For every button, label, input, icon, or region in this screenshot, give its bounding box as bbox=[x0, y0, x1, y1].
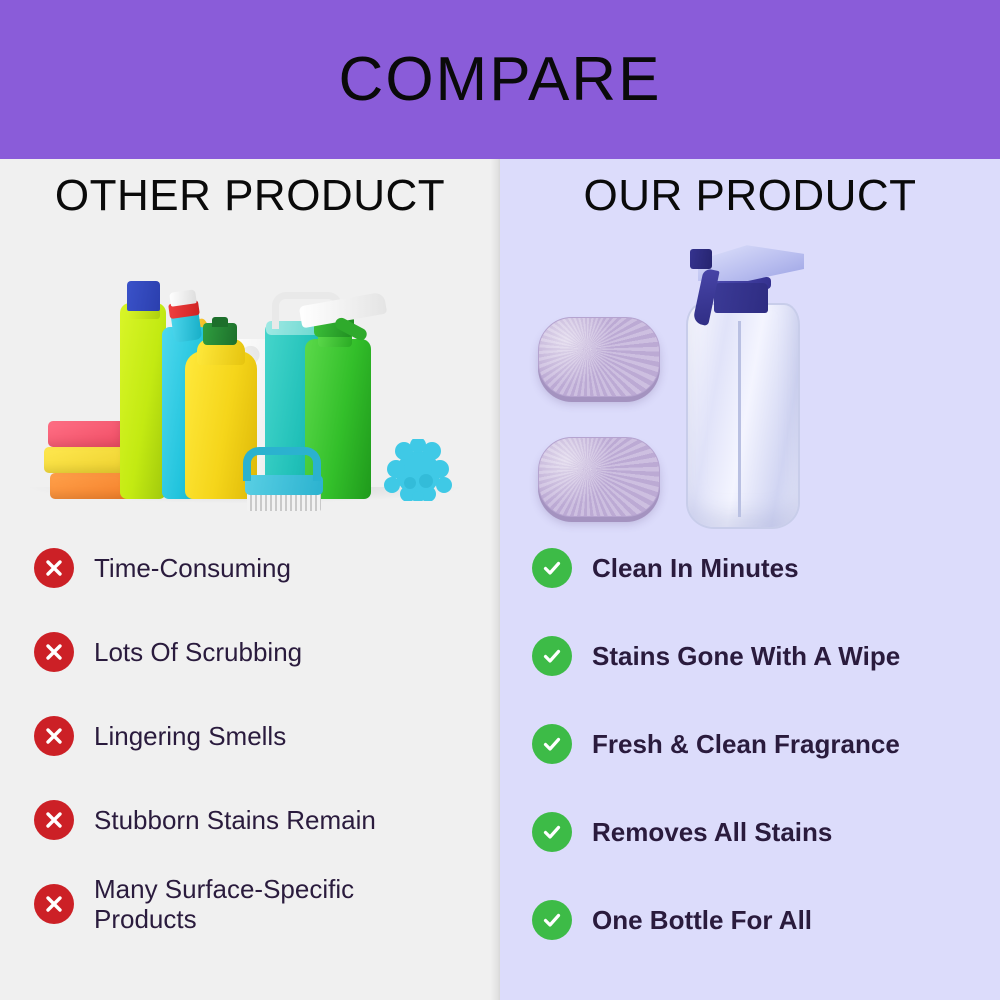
other-product-artwork bbox=[0, 225, 500, 525]
panel-other-product: OTHER PRODUCT bbox=[0, 159, 500, 1000]
list-item-label: Removes All Stains bbox=[592, 817, 832, 848]
sponge-pink bbox=[48, 421, 126, 447]
list-item: Stubborn Stains Remain bbox=[34, 789, 500, 851]
scrub-brush-handle bbox=[243, 447, 321, 481]
duster-icon bbox=[382, 439, 454, 501]
list-item-label: Time-Consuming bbox=[94, 553, 291, 584]
list-item-label: Lingering Smells bbox=[94, 721, 286, 752]
circle-cross-icon bbox=[34, 800, 74, 840]
other-product-feature-list: Time-Consuming Lots Of Scrubbing Lingeri… bbox=[0, 537, 500, 957]
cleaning-tablet-top bbox=[538, 317, 660, 397]
panel-heading-other: OTHER PRODUCT bbox=[0, 173, 500, 219]
microfibre-duster bbox=[382, 439, 454, 501]
circle-check-icon bbox=[532, 900, 572, 940]
list-item-label: Stains Gone With A Wipe bbox=[592, 641, 900, 672]
list-item-label: Stubborn Stains Remain bbox=[94, 805, 376, 836]
our-product-artwork bbox=[500, 225, 1000, 525]
our-product-feature-list: Clean In Minutes Stains Gone With A Wipe… bbox=[500, 537, 1000, 977]
list-item-label: Many Surface-Specific Products bbox=[94, 874, 424, 935]
spray-bottle-nozzle bbox=[690, 249, 712, 269]
panel-heading-our: OUR PRODUCT bbox=[500, 173, 1000, 219]
header-banner: COMPARE bbox=[0, 0, 1000, 159]
circle-cross-icon bbox=[34, 716, 74, 756]
panel-our-product: OUR PRODUCT Clean In Minutes bbox=[500, 159, 1000, 1000]
circle-cross-icon bbox=[34, 548, 74, 588]
blue-cap bbox=[127, 281, 160, 311]
lime-bottle bbox=[120, 303, 166, 499]
circle-check-icon bbox=[532, 636, 572, 676]
circle-cross-icon bbox=[34, 884, 74, 924]
list-item: Clean In Minutes bbox=[532, 537, 1000, 599]
list-item: Removes All Stains bbox=[532, 801, 1000, 863]
page-title: COMPARE bbox=[339, 49, 662, 111]
list-item: One Bottle For All bbox=[532, 889, 1000, 951]
cleaning-tablet-bottom bbox=[538, 437, 660, 517]
scrub-brush-bristles bbox=[247, 493, 321, 511]
spray-bottle-neck bbox=[714, 283, 768, 313]
circle-check-icon bbox=[532, 812, 572, 852]
sponge-yellow bbox=[44, 447, 130, 473]
circle-check-icon bbox=[532, 724, 572, 764]
comparison-columns: OTHER PRODUCT bbox=[0, 159, 1000, 1000]
compare-infographic: COMPARE OTHER PRODUCT bbox=[0, 0, 1000, 1000]
list-item: Lingering Smells bbox=[34, 705, 500, 767]
circle-check-icon bbox=[532, 548, 572, 588]
dark-green-cap-tip bbox=[212, 317, 228, 327]
list-item-label: Fresh & Clean Fragrance bbox=[592, 729, 900, 760]
list-item: Many Surface-Specific Products bbox=[34, 873, 500, 935]
list-item-label: One Bottle For All bbox=[592, 905, 812, 936]
spray-bottle-body bbox=[686, 303, 800, 529]
spray-bottle-tube bbox=[738, 321, 741, 517]
list-item-label: Clean In Minutes bbox=[592, 553, 799, 584]
circle-cross-icon bbox=[34, 632, 74, 672]
list-item: Fresh & Clean Fragrance bbox=[532, 713, 1000, 775]
list-item: Time-Consuming bbox=[34, 537, 500, 599]
list-item: Lots Of Scrubbing bbox=[34, 621, 500, 683]
list-item: Stains Gone With A Wipe bbox=[532, 625, 1000, 687]
list-item-label: Lots Of Scrubbing bbox=[94, 637, 302, 668]
